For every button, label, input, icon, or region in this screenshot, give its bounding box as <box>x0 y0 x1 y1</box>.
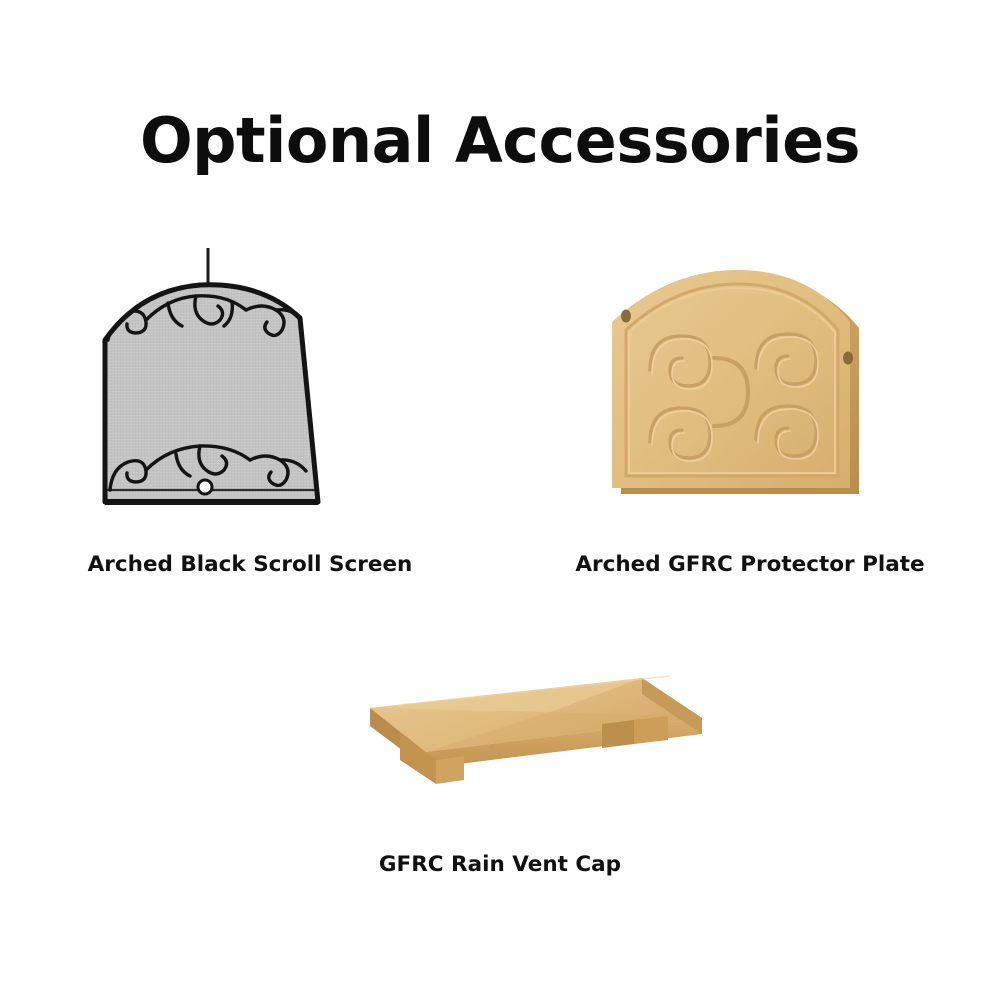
accessory-item-gfrc-rain-vent-cap: GFRC Rain Vent Cap <box>250 660 750 900</box>
accessory-label: GFRC Rain Vent Cap <box>250 852 750 877</box>
accessory-item-arched-black-scroll-screen: Arched Black Scroll Screen <box>0 240 500 600</box>
arched-gfrc-protector-plate-image <box>500 240 1000 540</box>
arched-black-scroll-screen-image <box>0 240 500 540</box>
accessory-label: Arched Black Scroll Screen <box>0 552 500 577</box>
page-title: Optional Accessories <box>0 104 1000 177</box>
accessory-item-arched-gfrc-protector-plate: Arched GFRC Protector Plate <box>500 240 1000 600</box>
accessories-page: Optional Accessories <box>0 0 1000 1000</box>
gfrc-rain-vent-cap-image <box>250 660 750 840</box>
accessory-label: Arched GFRC Protector Plate <box>500 552 1000 577</box>
